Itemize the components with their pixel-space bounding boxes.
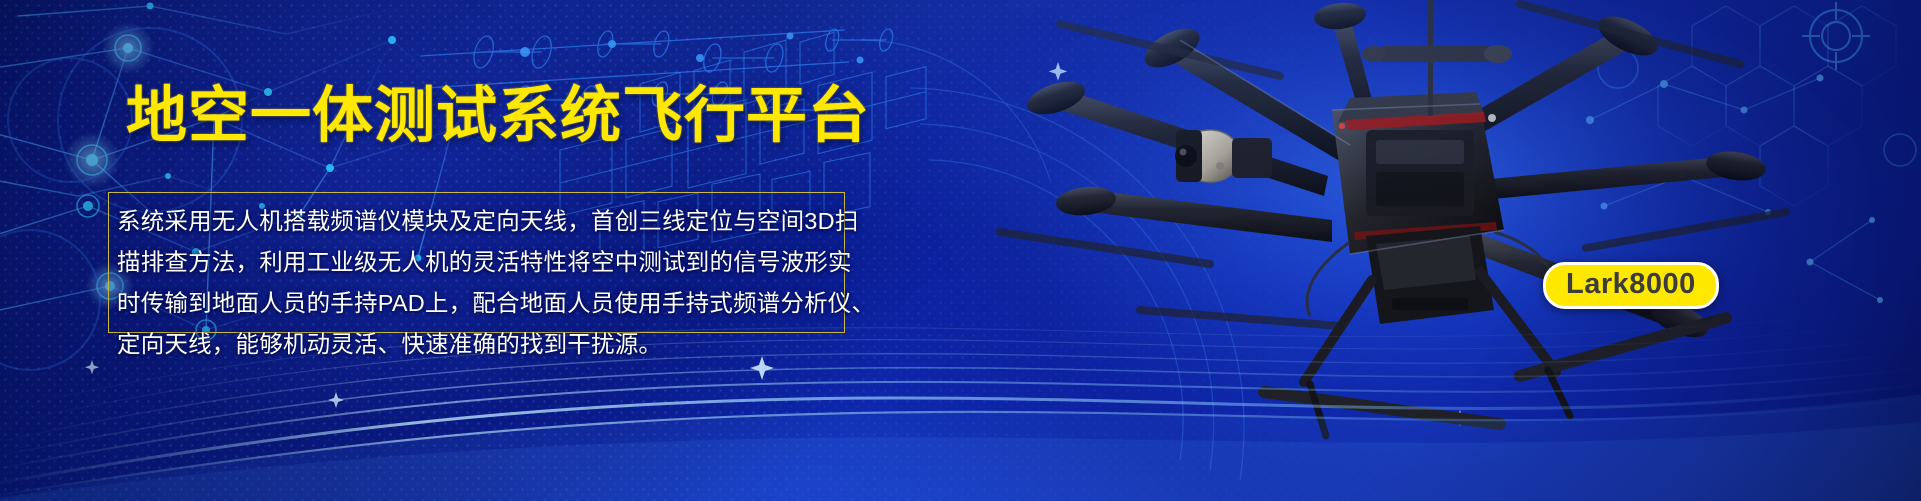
- page-title: 地空一体测试系统飞行平台: [126, 83, 870, 147]
- description-line: 时传输到地面人员的手持PAD上，配合地面人员使用手持式频谱分析仪、: [117, 283, 834, 324]
- description-line: 系统采用无人机搭载频谱仪模块及定向天线，首创三线定位与空间3D扫: [117, 201, 834, 242]
- description-line: 描排查方法，利用工业级无人机的灵活特性将空中测试到的信号波形实: [117, 242, 834, 283]
- description-line: 定向天线，能够机动灵活、快速准确的找到干扰源。: [117, 324, 834, 365]
- drone-product-image: [880, 0, 1921, 450]
- promo-banner: 地空一体测试系统飞行平台 系统采用无人机搭载频谱仪模块及定向天线，首创三线定位与…: [0, 0, 1921, 501]
- product-model-badge: Lark8000: [1543, 262, 1719, 309]
- description-box: 系统采用无人机搭载频谱仪模块及定向天线，首创三线定位与空间3D扫 描排查方法，利…: [108, 192, 845, 333]
- description-text: 系统采用无人机搭载频谱仪模块及定向天线，首创三线定位与空间3D扫 描排查方法，利…: [109, 193, 846, 365]
